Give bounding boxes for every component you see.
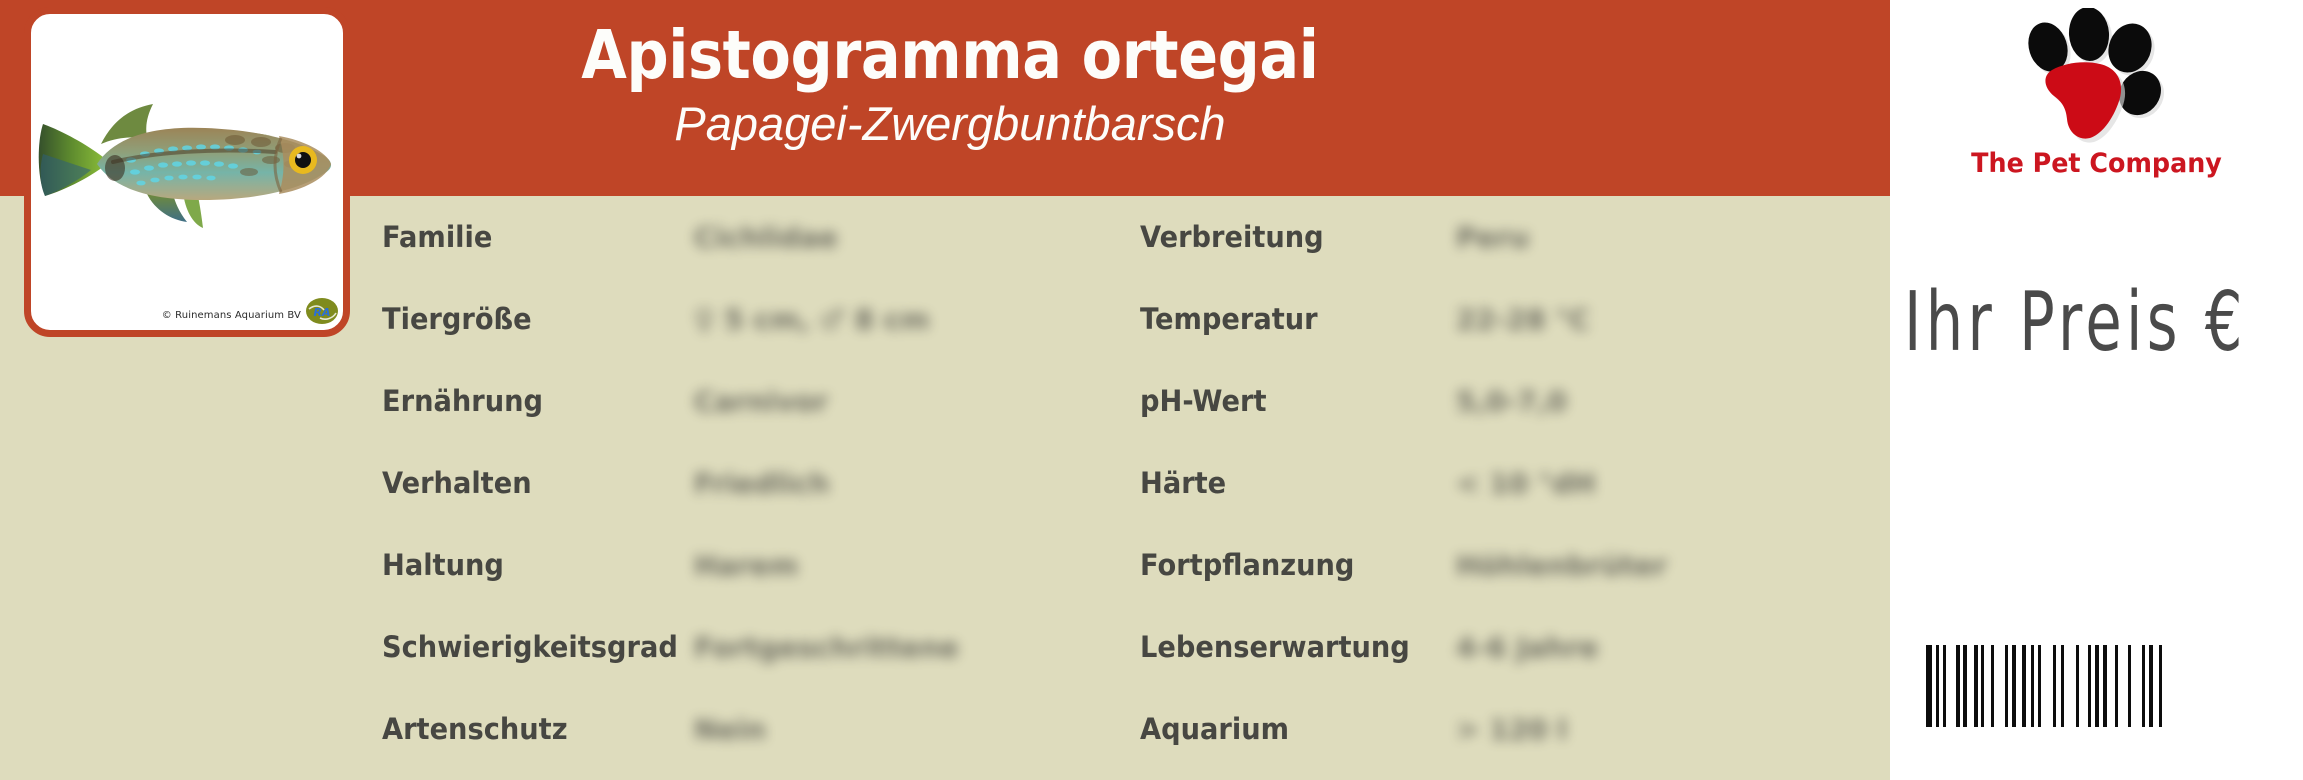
spec-row: pH-Wert 5,0-7,0: [1140, 360, 1880, 442]
spec-row: Lebenserwartung 4-6 Jahre: [1140, 606, 1880, 688]
spec-value-verbreitung: Peru: [1456, 221, 1529, 254]
spec-value-artenschutz: Nein: [694, 713, 766, 746]
spec-row: Familie Cichlidae: [382, 196, 1122, 278]
species-info-panel: Apistogramma ortegai Papagei-Zwergbuntba…: [0, 0, 1890, 780]
barcode-bar: [1994, 645, 2005, 727]
spec-value-aquarium: > 120 l: [1456, 713, 1567, 746]
spec-value-fortpflanzung: Höhlenbrüter: [1456, 549, 1667, 582]
spec-value-tiergroesse: ♀ 5 cm, ♂ 8 cm: [694, 303, 930, 336]
spec-row: Aquarium > 120 l: [1140, 688, 1880, 770]
spec-value-lebenserwartung: 4-6 Jahre: [1456, 631, 1598, 664]
page-title: Apistogramma ortegai: [581, 16, 1318, 94]
spec-label-aquarium: Aquarium: [1140, 712, 1289, 746]
barcode-bar: [2159, 645, 2162, 727]
spec-value-verhalten: Friedlich: [694, 467, 830, 500]
species-spec-table: Familie Cichlidae Tiergröße ♀ 5 cm, ♂ 8 …: [0, 196, 1890, 780]
spec-row: Fortpflanzung Höhlenbrüter: [1140, 524, 1880, 606]
barcode-bar: [1967, 645, 1974, 727]
paw-print-icon: [2018, 8, 2174, 143]
spec-label-fortpflanzung: Fortpflanzung: [1140, 548, 1354, 582]
spec-column-left: Familie Cichlidae Tiergröße ♀ 5 cm, ♂ 8 …: [382, 196, 1122, 780]
barcode-bar: [2131, 645, 2142, 727]
barcode-icon: [1926, 645, 2162, 727]
spec-label-verbreitung: Verbreitung: [1140, 220, 1324, 254]
spec-row: Härte < 10 °dH: [1140, 442, 1880, 524]
spec-value-temperatur: 22-28 °C: [1456, 303, 1590, 336]
spec-label-verhalten: Verhalten: [382, 466, 532, 500]
spec-label-lebenserwartung: Lebenserwartung: [1140, 630, 1410, 664]
spec-label-haerte: Härte: [1140, 466, 1226, 500]
spec-label-ernaehrung: Ernährung: [382, 384, 543, 418]
spec-value-familie: Cichlidae: [694, 221, 838, 254]
spec-label-tiergroesse: Tiergröße: [382, 302, 532, 336]
spec-label-haltung: Haltung: [382, 548, 504, 582]
spec-row: Tiergröße ♀ 5 cm, ♂ 8 cm: [382, 278, 1122, 360]
barcode-bar: [2118, 645, 2128, 727]
brand-name: The Pet Company: [1902, 148, 2290, 179]
spec-row: Temperatur 22-28 °C: [1140, 278, 1880, 360]
barcode-bar: [1984, 645, 1991, 727]
spec-row: Ernährung Carnivor: [382, 360, 1122, 442]
brand-logo: The Pet Company: [1890, 8, 2303, 198]
spec-value-ernaehrung: Carnivor: [694, 385, 828, 418]
spec-label-artenschutz: Artenschutz: [382, 712, 568, 746]
spec-value-ph-wert: 5,0-7,0: [1456, 385, 1567, 418]
barcode-bar: [2041, 645, 2053, 727]
title-block: Apistogramma ortegai Papagei-Zwergbuntba…: [380, 0, 1520, 196]
barcode-bar: [1946, 645, 1956, 727]
spec-value-haerte: < 10 °dH: [1456, 467, 1595, 500]
spec-label-familie: Familie: [382, 220, 492, 254]
price-panel: The Pet Company Ihr Preis €: [1890, 0, 2303, 780]
spec-row: Haltung Harem: [382, 524, 1122, 606]
spec-value-schwierigkeitsgrad: Fortgeschrittene: [694, 631, 959, 664]
spec-row: Schwierigkeitsgrad Fortgeschrittene: [382, 606, 1122, 688]
price-label: Ihr Preis €: [1904, 278, 2278, 368]
spec-value-haltung: Harem: [694, 549, 798, 582]
spec-row: Verbreitung Peru: [1140, 196, 1880, 278]
page-subtitle: Papagei-Zwergbuntbarsch: [674, 96, 1225, 152]
barcode-bar: [2107, 645, 2115, 727]
spec-label-temperatur: Temperatur: [1140, 302, 1318, 336]
spec-label-ph-wert: pH-Wert: [1140, 384, 1266, 418]
barcode-bar: [2064, 645, 2076, 727]
spec-row: Verhalten Friedlich: [382, 442, 1122, 524]
spec-column-right: Verbreitung Peru Temperatur 22-28 °C pH-…: [1140, 196, 1880, 780]
barcode-bar: [2079, 645, 2088, 727]
spec-label-schwierigkeitsgrad: Schwierigkeitsgrad: [382, 630, 678, 664]
spec-row: Artenschutz Nein: [382, 688, 1122, 770]
price-tag-sheet: Apistogramma ortegai Papagei-Zwergbuntba…: [0, 0, 2303, 780]
